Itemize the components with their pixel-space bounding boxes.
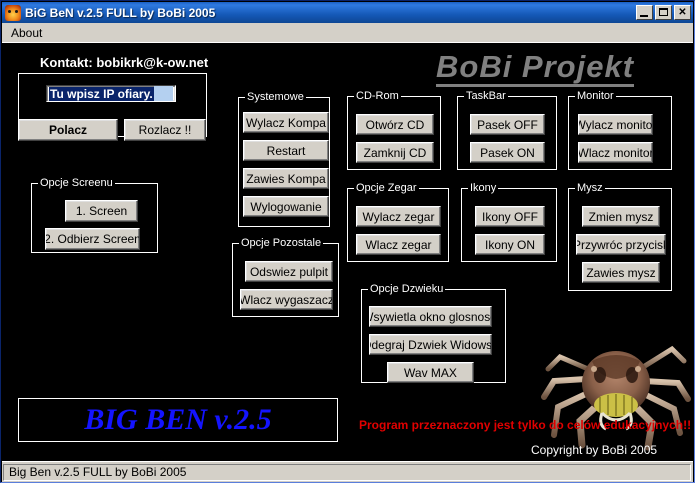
icons-title: Ikony xyxy=(468,182,498,194)
system-groupbox: Systemowe Wylacz Kompa Restart Zawies Ko… xyxy=(238,97,330,227)
window-title: BiG BeN v.2.5 FULL by BoBi 2005 xyxy=(25,6,636,20)
sound-groupbox: Opcje Dzwieku Wsywietla okno glosnosci O… xyxy=(361,289,506,383)
status-bar-text: Big Ben v.2.5 FULL by BoBi 2005 xyxy=(3,464,691,481)
other-button-screensaver[interactable]: Wlacz wygaszacz xyxy=(240,289,333,310)
app-firefox-icon xyxy=(5,5,21,21)
title-bar[interactable]: BiG BeN v.2.5 FULL by BoBi 2005 ✕ xyxy=(2,2,693,23)
taskbar-button-off[interactable]: Pasek OFF xyxy=(470,114,545,135)
monitor-button-off[interactable]: Wylacz monitor xyxy=(578,114,653,135)
client-area: Kontakt: bobikrk@k-ow.net Tu wpisz IP of… xyxy=(2,43,693,461)
maximize-button[interactable] xyxy=(655,5,672,20)
screen-button-1[interactable]: 1. Screen xyxy=(65,200,138,222)
logo-text: BIG BEN v.2.5 xyxy=(84,403,271,437)
clock-button-off[interactable]: Wylacz zegar xyxy=(356,206,441,227)
taskbar-title: TaskBar xyxy=(464,90,508,102)
sound-button-play-windows-sound[interactable]: Odegraj Dzwiek Widowsa xyxy=(369,334,492,355)
cdrom-button-open[interactable]: Otwórz CD xyxy=(356,114,434,135)
cdrom-groupbox: CD-Rom Otwórz CD Zamknij CD xyxy=(347,96,441,170)
minimize-button[interactable] xyxy=(636,5,653,20)
icons-groupbox: Ikony Ikony OFF Ikony ON xyxy=(461,188,557,262)
system-title: Systemowe xyxy=(245,91,306,103)
system-button-restart[interactable]: Restart xyxy=(243,140,329,161)
screen-button-2[interactable]: 2. Odbierz Screen xyxy=(45,228,140,250)
monitor-groupbox: Monitor Wylacz monitor Wlacz monitor xyxy=(568,96,672,170)
ip-input-rest xyxy=(154,86,173,101)
mouse-button-suspend[interactable]: Zawies mysz xyxy=(582,262,660,283)
sound-button-wav-max[interactable]: Wav MAX xyxy=(387,362,474,383)
taskbar-groupbox: TaskBar Pasek OFF Pasek ON xyxy=(457,96,557,170)
caption-buttons: ✕ xyxy=(636,5,691,20)
sound-title: Opcje Dzwieku xyxy=(368,283,445,295)
monitor-button-on[interactable]: Wlacz monitor xyxy=(578,142,653,163)
cdrom-button-close[interactable]: Zamknij CD xyxy=(356,142,434,163)
other-options-groupbox: Opcje Pozostale Odswiez pulpit Wlacz wyg… xyxy=(232,243,339,317)
ip-input[interactable]: Tu wpisz IP ofiary. xyxy=(46,85,176,102)
ip-input-value: Tu wpisz IP ofiary. xyxy=(49,87,154,101)
connect-button[interactable]: Polacz xyxy=(18,119,118,141)
educational-warning: Program przeznaczony jest tylko do celów… xyxy=(359,418,691,432)
copyright-label: Copyright by BoBi 2005 xyxy=(531,443,657,457)
clock-button-on[interactable]: Wlacz zegar xyxy=(356,234,441,255)
clock-groupbox: Opcje Zegar Wylacz zegar Wlacz zegar xyxy=(347,188,449,262)
cdrom-title: CD-Rom xyxy=(354,90,401,102)
other-button-refresh-desktop[interactable]: Odswiez pulpit xyxy=(245,261,333,282)
mouse-button-restore[interactable]: Przywróc przycisk xyxy=(576,234,666,255)
close-icon[interactable]: ✕ xyxy=(674,5,691,20)
monitor-title: Monitor xyxy=(575,90,616,102)
mouse-title: Mysz xyxy=(575,182,605,194)
mouse-button-change[interactable]: Zmien mysz xyxy=(582,206,660,227)
screen-options-groupbox: Opcje Screenu 1. Screen 2. Odbierz Scree… xyxy=(31,183,158,253)
icons-button-on[interactable]: Ikony ON xyxy=(475,234,545,255)
system-button-shutdown[interactable]: Wylacz Kompa xyxy=(243,112,329,133)
other-options-title: Opcje Pozostale xyxy=(239,237,323,249)
system-button-suspend[interactable]: Zawies Kompa xyxy=(243,168,329,189)
disconnect-button[interactable]: Rozlacz !! xyxy=(124,119,206,141)
contact-label: Kontakt: bobikrk@k-ow.net xyxy=(40,55,208,70)
taskbar-button-on[interactable]: Pasek ON xyxy=(470,142,545,163)
screen-options-title: Opcje Screenu xyxy=(38,177,115,189)
clock-title: Opcje Zegar xyxy=(354,182,419,194)
menu-bar: About xyxy=(2,23,693,43)
application-window: BiG BeN v.2.5 FULL by BoBi 2005 ✕ About … xyxy=(0,0,695,483)
mouse-groupbox: Mysz Zmien mysz Przywróc przycisk Zawies… xyxy=(568,188,672,291)
sound-button-volume-window[interactable]: Wsywietla okno glosnosci xyxy=(369,306,492,327)
icons-button-off[interactable]: Ikony OFF xyxy=(475,206,545,227)
menu-item-about[interactable]: About xyxy=(4,24,49,42)
status-bar: Big Ben v.2.5 FULL by BoBi 2005 xyxy=(2,461,693,482)
logo-box: BIG BEN v.2.5 xyxy=(18,398,338,442)
brand-title: BoBi Projekt xyxy=(436,51,634,87)
spider-creature-image xyxy=(532,335,692,453)
system-button-logoff[interactable]: Wylogowanie xyxy=(243,196,329,217)
